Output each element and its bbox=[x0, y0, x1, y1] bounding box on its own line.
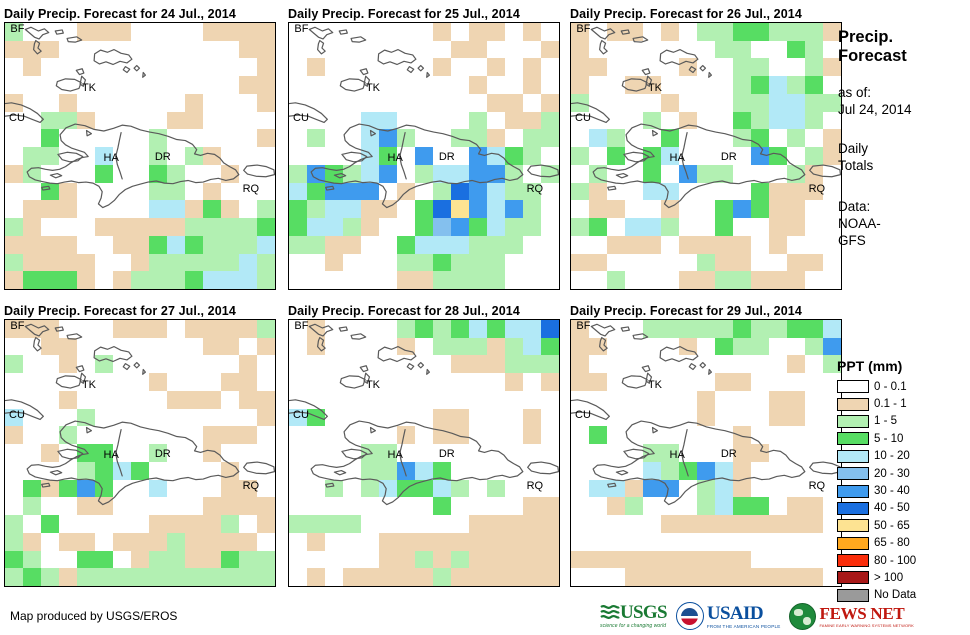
fewsnet-globe-icon bbox=[789, 603, 816, 630]
map-canvas-5[interactable]: BFTKCUHADRRQ bbox=[288, 319, 560, 587]
panel-title-1: Daily Precip. Forecast for 24 Jul., 2014 bbox=[4, 6, 276, 22]
country-label-bf: BF bbox=[10, 321, 24, 332]
forecast-panel-6: Daily Precip. Forecast for 29 Jul., 2014… bbox=[570, 303, 842, 587]
usgs-logo: USGS science for a changing world bbox=[600, 601, 667, 631]
usaid-wordmark: USAID bbox=[707, 604, 781, 623]
country-label-layer: BFTKCUHADRRQ bbox=[571, 23, 841, 289]
legend-swatch bbox=[837, 485, 869, 498]
country-label-ha: HA bbox=[670, 450, 685, 461]
legend-swatch bbox=[837, 537, 869, 550]
side-title-line1: Precip. bbox=[838, 28, 966, 47]
country-label-cu: CU bbox=[575, 410, 591, 421]
precip-legend: PPT (mm) 0 - 0.10.1 - 11 - 55 - 1010 - 2… bbox=[834, 358, 964, 604]
legend-row: 20 - 30 bbox=[834, 465, 964, 482]
legend-row: 40 - 50 bbox=[834, 500, 964, 517]
country-label-layer: BFTKCUHADRRQ bbox=[289, 23, 559, 289]
forecast-panel-2: Daily Precip. Forecast for 25 Jul., 2014… bbox=[288, 6, 560, 290]
country-label-layer: BFTKCUHADRRQ bbox=[289, 320, 559, 586]
country-label-bf: BF bbox=[294, 24, 308, 35]
forecast-panel-3: Daily Precip. Forecast for 26 Jul., 2014… bbox=[570, 6, 842, 290]
map-canvas-4[interactable]: BFTKCUHADRRQ bbox=[4, 319, 276, 587]
legend-row: > 100 bbox=[834, 569, 964, 586]
country-label-ha: HA bbox=[388, 153, 403, 164]
legend-row: 80 - 100 bbox=[834, 552, 964, 569]
country-label-cu: CU bbox=[293, 410, 309, 421]
legend-label: 0 - 0.1 bbox=[874, 381, 907, 393]
legend-swatch bbox=[837, 571, 869, 584]
forecast-panel-4: Daily Precip. Forecast for 27 Jul., 2014… bbox=[4, 303, 276, 587]
legend-swatch bbox=[837, 467, 869, 480]
panel-title-5: Daily Precip. Forecast for 28 Jul., 2014 bbox=[288, 303, 560, 319]
asof-label: as of: bbox=[838, 84, 966, 101]
country-label-cu: CU bbox=[9, 113, 25, 124]
country-label-ha: HA bbox=[104, 153, 119, 164]
country-label-dr: DR bbox=[155, 152, 171, 163]
country-label-layer: BFTKCUHADRRQ bbox=[571, 320, 841, 586]
side-title-line2: Forecast bbox=[838, 47, 966, 66]
forecast-panel-5: Daily Precip. Forecast for 28 Jul., 2014… bbox=[288, 303, 560, 587]
legend-swatch bbox=[837, 432, 869, 445]
usaid-tagline: FROM THE AMERICAN PEOPLE bbox=[707, 624, 781, 629]
legend-swatch bbox=[837, 502, 869, 515]
country-label-bf: BF bbox=[294, 321, 308, 332]
legend-label: 0.1 - 1 bbox=[874, 398, 907, 410]
legend-row: 0 - 0.1 bbox=[834, 378, 964, 395]
country-label-cu: CU bbox=[575, 113, 591, 124]
country-label-ha: HA bbox=[670, 153, 685, 164]
usgs-tagline: science for a changing world bbox=[600, 623, 667, 629]
legend-label: 50 - 65 bbox=[874, 520, 910, 532]
usaid-seal-icon bbox=[676, 602, 704, 630]
map-credit: Map produced by USGS/EROS bbox=[10, 609, 177, 623]
country-label-dr: DR bbox=[439, 152, 455, 163]
country-label-tk: TK bbox=[82, 83, 96, 94]
legend-label: 1 - 5 bbox=[874, 415, 897, 427]
legend-label: 65 - 80 bbox=[874, 537, 910, 549]
country-label-dr: DR bbox=[439, 449, 455, 460]
fewsnet-tagline: FAMINE EARLY WARNING SYSTEMS NETWORK bbox=[819, 623, 913, 628]
legend-row: 65 - 80 bbox=[834, 535, 964, 552]
fewsnet-logo: FEWS NET FAMINE EARLY WARNING SYSTEMS NE… bbox=[789, 601, 913, 631]
legend-row: 0.1 - 1 bbox=[834, 395, 964, 412]
legend-swatch bbox=[837, 519, 869, 532]
country-label-tk: TK bbox=[366, 380, 380, 391]
map-canvas-3[interactable]: BFTKCUHADRRQ bbox=[570, 22, 842, 290]
country-label-tk: TK bbox=[82, 380, 96, 391]
country-label-bf: BF bbox=[576, 24, 590, 35]
country-label-ha: HA bbox=[388, 450, 403, 461]
map-canvas-6[interactable]: BFTKCUHADRRQ bbox=[570, 319, 842, 587]
fewsnet-wordmark: FEWS NET bbox=[819, 605, 913, 622]
country-label-cu: CU bbox=[293, 113, 309, 124]
country-label-rq: RQ bbox=[809, 481, 826, 492]
country-label-rq: RQ bbox=[527, 481, 544, 492]
legend-label: > 100 bbox=[874, 572, 903, 584]
data-source-label: Data: bbox=[838, 198, 966, 215]
country-label-layer: BFTKCUHADRRQ bbox=[5, 320, 275, 586]
panel-title-4: Daily Precip. Forecast for 27 Jul., 2014 bbox=[4, 303, 276, 319]
country-label-bf: BF bbox=[576, 321, 590, 332]
panel-title-2: Daily Precip. Forecast for 25 Jul., 2014 bbox=[288, 6, 560, 22]
country-label-dr: DR bbox=[721, 152, 737, 163]
legend-label: 20 - 30 bbox=[874, 468, 910, 480]
legend-row: 30 - 40 bbox=[834, 482, 964, 499]
agency-logos: USGS science for a changing world USAID … bbox=[600, 600, 914, 632]
legend-label: 10 - 20 bbox=[874, 450, 910, 462]
legend-label: 5 - 10 bbox=[874, 433, 903, 445]
legend-swatch bbox=[837, 554, 869, 567]
country-label-layer: BFTKCUHADRRQ bbox=[5, 23, 275, 289]
country-label-tk: TK bbox=[366, 83, 380, 94]
country-label-cu: CU bbox=[9, 410, 25, 421]
country-label-bf: BF bbox=[10, 24, 24, 35]
panel-title-6: Daily Precip. Forecast for 29 Jul., 2014 bbox=[570, 303, 842, 319]
country-label-ha: HA bbox=[104, 450, 119, 461]
country-label-rq: RQ bbox=[243, 184, 260, 195]
asof-date: Jul 24, 2014 bbox=[838, 101, 966, 118]
legend-label: 30 - 40 bbox=[874, 485, 910, 497]
map-canvas-1[interactable]: BFTKCUHADRRQ bbox=[4, 22, 276, 290]
legend-row: 50 - 65 bbox=[834, 517, 964, 534]
usaid-logo: USAID FROM THE AMERICAN PEOPLE bbox=[676, 601, 781, 631]
usgs-wordmark: USGS bbox=[620, 603, 667, 622]
country-label-rq: RQ bbox=[243, 481, 260, 492]
legend-swatch bbox=[837, 415, 869, 428]
legend-swatch bbox=[837, 380, 869, 393]
country-label-dr: DR bbox=[155, 449, 171, 460]
legend-swatch bbox=[837, 450, 869, 463]
country-label-rq: RQ bbox=[527, 184, 544, 195]
map-canvas-2[interactable]: BFTKCUHADRRQ bbox=[288, 22, 560, 290]
usgs-wave-icon bbox=[600, 604, 620, 621]
legend-label: 80 - 100 bbox=[874, 555, 916, 567]
legend-rows: 0 - 0.10.1 - 11 - 55 - 1010 - 2020 - 303… bbox=[834, 378, 964, 604]
country-label-tk: TK bbox=[648, 83, 662, 94]
panel-title-3: Daily Precip. Forecast for 26 Jul., 2014 bbox=[570, 6, 842, 22]
period-line2: Totals bbox=[838, 157, 966, 174]
legend-row: 10 - 20 bbox=[834, 448, 964, 465]
country-label-rq: RQ bbox=[809, 184, 826, 195]
side-info-block: Precip. Forecast as of: Jul 24, 2014 Dai… bbox=[838, 28, 966, 249]
forecast-panel-1: Daily Precip. Forecast for 24 Jul., 2014… bbox=[4, 6, 276, 290]
legend-row: 5 - 10 bbox=[834, 430, 964, 447]
data-source-line2: GFS bbox=[838, 232, 966, 249]
legend-row: 1 - 5 bbox=[834, 413, 964, 430]
legend-label: 40 - 50 bbox=[874, 502, 910, 514]
legend-title: PPT (mm) bbox=[837, 358, 964, 374]
country-label-dr: DR bbox=[721, 449, 737, 460]
legend-swatch bbox=[837, 398, 869, 411]
country-label-tk: TK bbox=[648, 380, 662, 391]
period-line1: Daily bbox=[838, 140, 966, 157]
data-source-line1: NOAA- bbox=[838, 215, 966, 232]
